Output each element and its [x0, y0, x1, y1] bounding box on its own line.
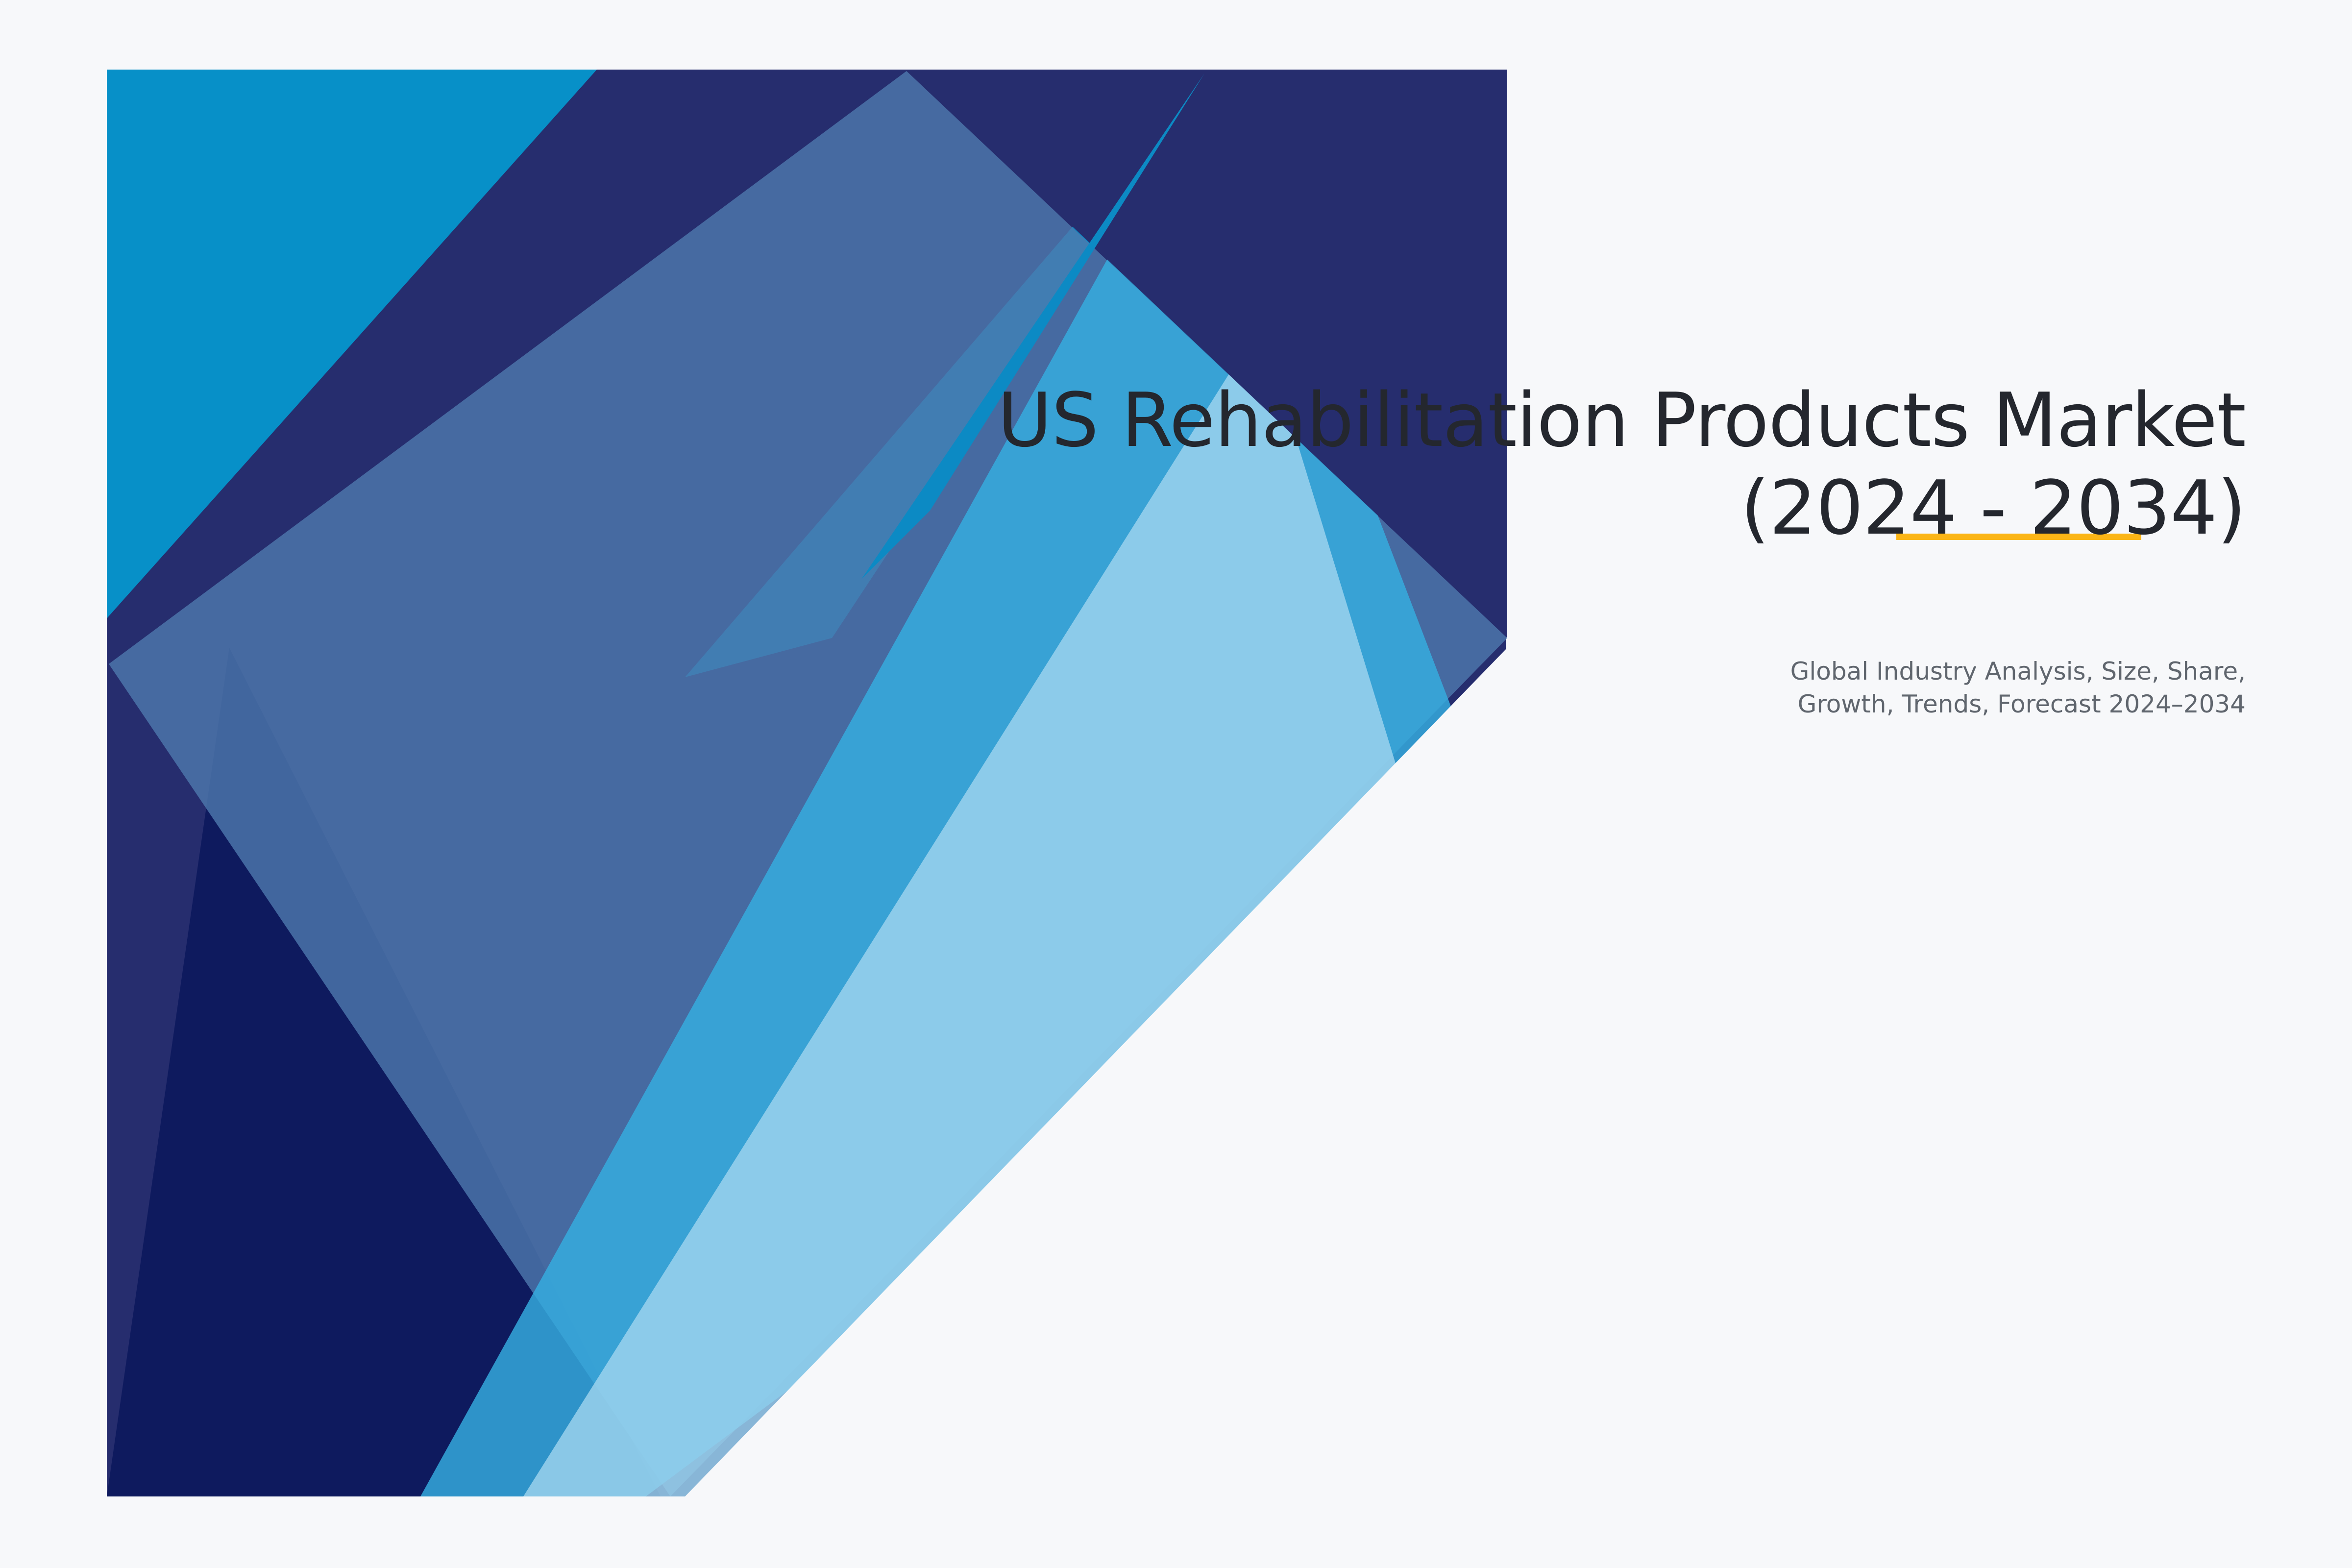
geometric-cover-graphic: [107, 70, 1507, 1496]
page-subtitle: Global Industry Analysis, Size, Share, G…: [1511, 655, 2246, 721]
title-block: US Rehabilitation Products Market (2024 …: [972, 376, 2246, 552]
page-title: US Rehabilitation Products Market (2024 …: [972, 376, 2246, 552]
report-cover-page: US Rehabilitation Products Market (2024 …: [0, 0, 2352, 1568]
